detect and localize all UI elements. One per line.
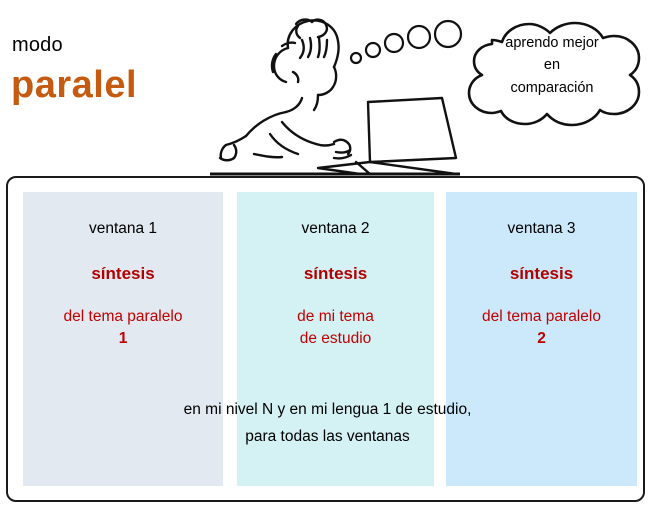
description-text: del tema paralelo 1 <box>23 306 223 351</box>
thought-bubble-text: aprendo mejor en comparación <box>462 32 642 99</box>
description-line-1: de mi tema <box>237 306 434 328</box>
thought-line-3: comparación <box>462 77 642 99</box>
header-area: modo paralel <box>0 0 657 178</box>
parallel-mode-panel: ventana 1 síntesis del tema paralelo 1 v… <box>6 176 645 502</box>
window-column-ventana-3: ventana 3 síntesis del tema paralelo 2 <box>446 192 637 486</box>
synthesis-label: síntesis <box>446 264 637 284</box>
window-label: ventana 3 <box>446 220 637 238</box>
thought-line-2: en <box>462 54 642 76</box>
description-line-2: 1 <box>23 328 223 350</box>
description-line-2: de estudio <box>237 328 434 350</box>
description-text: de mi tema de estudio <box>237 306 434 351</box>
description-line-1: del tema paralelo <box>23 306 223 328</box>
mode-word-label: modo <box>12 34 63 57</box>
window-column-ventana-2: ventana 2 síntesis de mi tema de estudio <box>237 192 434 486</box>
window-label: ventana 2 <box>237 220 434 238</box>
mode-name-title: paralel <box>11 66 137 106</box>
thought-line-1: aprendo mejor <box>462 32 642 54</box>
description-line-2: 2 <box>446 328 637 350</box>
description-text: del tema paralelo 2 <box>446 306 637 351</box>
window-column-ventana-1: ventana 1 síntesis del tema paralelo 1 <box>23 192 223 486</box>
synthesis-label: síntesis <box>23 264 223 284</box>
synthesis-label: síntesis <box>237 264 434 284</box>
window-label: ventana 1 <box>23 220 223 238</box>
description-line-1: del tema paralelo <box>446 306 637 328</box>
